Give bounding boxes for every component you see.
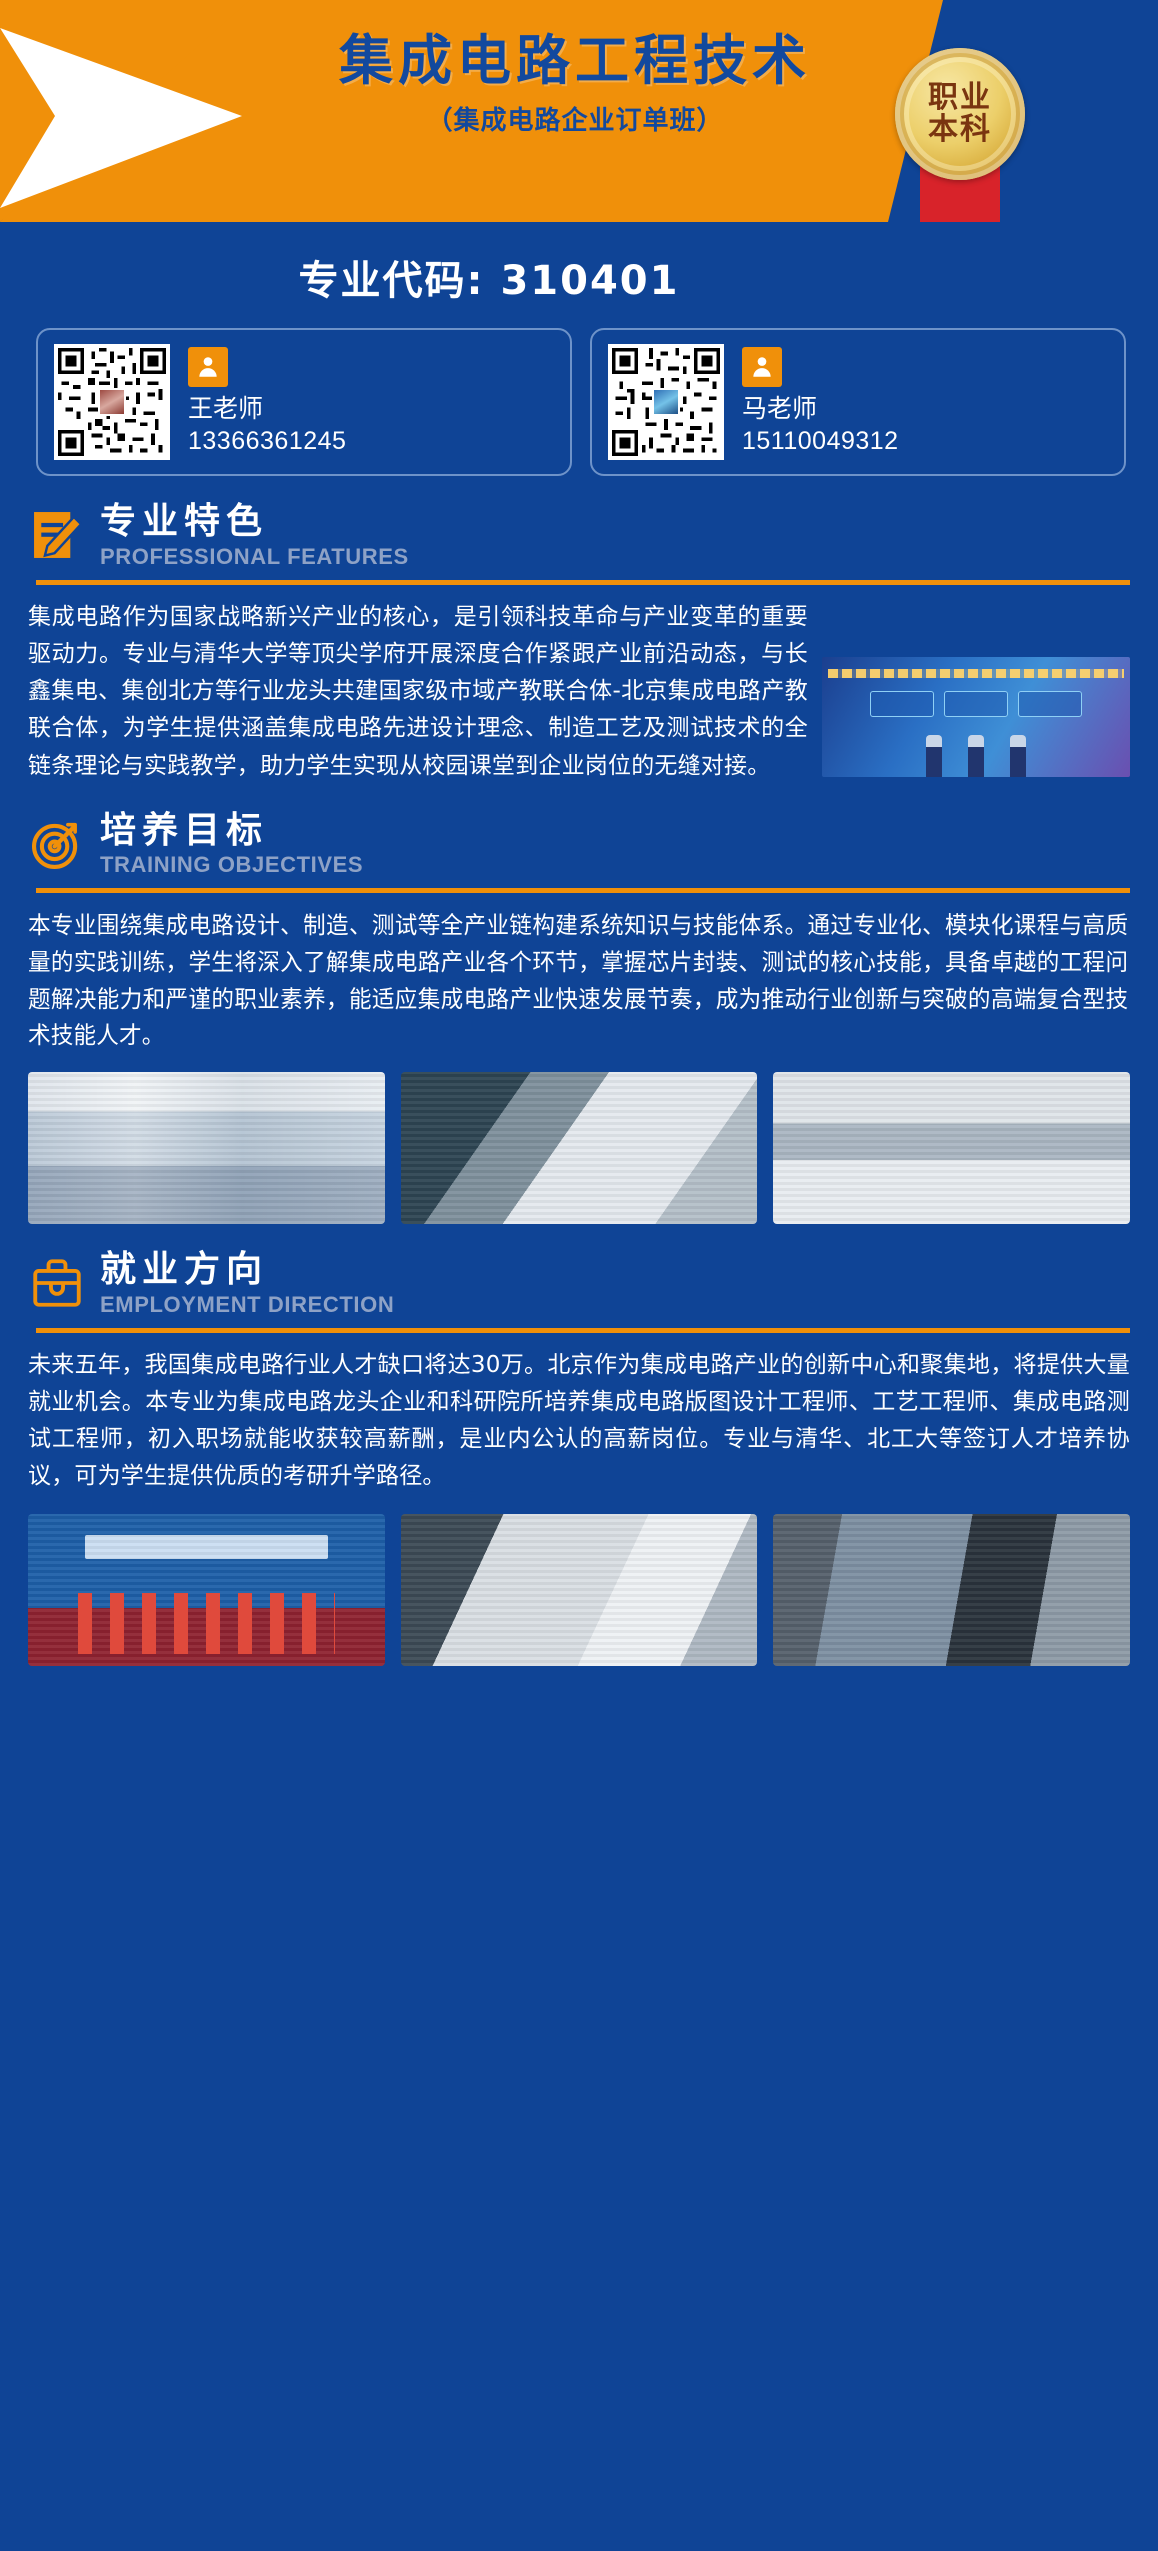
ceremony-banner-text xyxy=(828,669,1124,678)
section-title-cn: 培养目标 xyxy=(100,811,363,851)
major-code: 专业代码: 310401 xyxy=(0,248,1158,306)
qr-center-logo xyxy=(652,388,680,416)
program-title: 集成电路工程技术 xyxy=(255,30,895,92)
contact-info: 马老师 15110049312 xyxy=(742,347,899,458)
section-title-cn: 专业特色 xyxy=(100,502,409,542)
contact-card[interactable]: 马老师 15110049312 xyxy=(590,328,1126,476)
qr-center-logo xyxy=(98,388,126,416)
photo-texture xyxy=(401,1072,758,1224)
section-titles: 就业方向 EMPLOYMENT DIRECTION xyxy=(100,1250,394,1318)
technician-wafer-inspection-photo xyxy=(401,1072,758,1224)
contact-cards: 王老师 13366361245 xyxy=(0,306,1158,476)
section-body-text: 未来五年，我国集成电路行业人才缺口将达30万。北京作为集成电路产业的创新中心和聚… xyxy=(28,1347,1130,1496)
section-body-text: 本专业围绕集成电路设计、制造、测试等全产业链构建系统知识与技能体系。通过专业化、… xyxy=(28,907,1128,1054)
contact-name: 马老师 xyxy=(742,393,899,424)
qr-code-icon[interactable] xyxy=(54,344,170,460)
ceremony-person xyxy=(926,735,942,777)
section-header: 培养目标 TRAINING OBJECTIVES xyxy=(28,785,1130,879)
section-titles: 专业特色 PROFESSIONAL FEATURES xyxy=(100,502,409,570)
briefcase-icon xyxy=(28,1254,86,1312)
person-avatar-icon xyxy=(742,347,782,387)
poster-header: 集成电路工程技术 （集成电路企业订单班） 职业 本科 xyxy=(0,0,1158,222)
section-header: 就业方向 EMPLOYMENT DIRECTION xyxy=(28,1224,1130,1318)
program-poster: 集成电路工程技术 （集成电路企业订单班） 职业 本科 专业代码: 310401 xyxy=(0,0,1158,2551)
section-divider xyxy=(36,580,1130,585)
ceremony-panels xyxy=(844,691,1108,717)
ceremony-panel xyxy=(944,691,1008,717)
photo-row-employment xyxy=(0,1496,1158,1666)
section-title-cn: 就业方向 xyxy=(100,1250,394,1290)
target-arrow-icon xyxy=(28,815,86,873)
ceremony-people xyxy=(822,729,1130,777)
medal-icon: 职业 本科 xyxy=(895,48,1025,180)
ceremony-person xyxy=(1010,735,1026,777)
engineers-group-discussion-photo xyxy=(773,1072,1130,1224)
vocational-badge: 职业 本科 xyxy=(890,48,1030,222)
section-header: 专业特色 PROFESSIONAL FEATURES xyxy=(28,476,1130,570)
qr-code-icon[interactable] xyxy=(608,344,724,460)
contact-name: 王老师 xyxy=(188,393,346,424)
equipment-monitor-photo xyxy=(773,1514,1130,1666)
contact-phone: 15110049312 xyxy=(742,426,899,457)
badge-line-1: 职业 xyxy=(928,82,992,114)
signing-ceremony-photo xyxy=(822,657,1130,777)
section-title-en: TRAINING OBJECTIVES xyxy=(100,852,363,878)
contact-card[interactable]: 王老师 13366361245 xyxy=(36,328,572,476)
photo-texture xyxy=(773,1514,1130,1666)
section-title-en: EMPLOYMENT DIRECTION xyxy=(100,1292,394,1318)
photo-texture xyxy=(28,1072,385,1224)
ceremony-panel xyxy=(1018,691,1082,717)
photo-texture xyxy=(401,1514,758,1666)
cleanroom-laboratory-photo xyxy=(28,1072,385,1224)
photo-texture xyxy=(773,1072,1130,1224)
award-ceremony-stage-photo xyxy=(28,1514,385,1666)
photo-row-training xyxy=(0,1054,1158,1224)
person-avatar-icon xyxy=(188,347,228,387)
program-subtitle: （集成电路企业订单班） xyxy=(255,100,895,137)
ceremony-person xyxy=(968,735,984,777)
title-block: 集成电路工程技术 （集成电路企业订单班） xyxy=(255,30,895,137)
section-employment-direction: 就业方向 EMPLOYMENT DIRECTION 未来五年，我国集成电路行业人… xyxy=(0,1224,1158,1496)
contact-phone: 13366361245 xyxy=(188,426,346,457)
section-training-objectives: 培养目标 TRAINING OBJECTIVES 本专业围绕集成电路设计、制造、… xyxy=(0,785,1158,1054)
section-divider xyxy=(36,1328,1130,1333)
ceremony-panel xyxy=(870,691,934,717)
bottom-spacer xyxy=(0,1666,1158,1722)
document-pencil-icon xyxy=(28,506,86,564)
contact-info: 王老师 13366361245 xyxy=(188,347,346,458)
photo-texture xyxy=(28,1514,385,1666)
badge-line-2: 本科 xyxy=(928,114,992,146)
section-divider xyxy=(36,888,1130,893)
section-title-en: PROFESSIONAL FEATURES xyxy=(100,544,409,570)
section-professional-features: 专业特色 PROFESSIONAL FEATURES 集成电路作为国家战略新兴产… xyxy=(0,476,1158,785)
section-titles: 培养目标 TRAINING OBJECTIVES xyxy=(100,811,363,879)
cleanroom-operator-photo xyxy=(401,1514,758,1666)
